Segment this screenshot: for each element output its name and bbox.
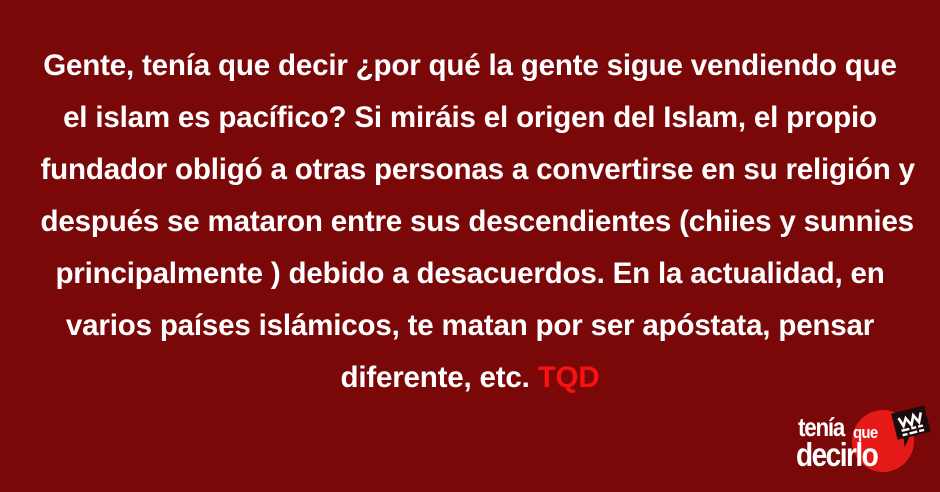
tqd-tag: TQD [538, 361, 600, 394]
logo-text-decirlo: decirlo [796, 436, 877, 474]
quote-line: el islam es pacífico? Si miráis el orige… [41, 92, 900, 144]
tqd-logo[interactable]: teníaque decirlo [790, 402, 940, 488]
quote-line-final: diferente, etc. TQD [41, 352, 900, 404]
quote-line: Gente, tenía que decir ¿por qué la gente… [41, 40, 900, 92]
logo-row-bottom: decirlo [796, 436, 892, 474]
meme-card: Gente, tenía que decir ¿por qué la gente… [0, 0, 940, 492]
quote-line: principalmente ) debido a desacuerdos. E… [41, 248, 900, 300]
quote-text-block: Gente, tenía que decir ¿por qué la gente… [34, 40, 906, 404]
quote-line: fundador obligó a otras personas a conve… [41, 144, 900, 196]
quote-line: varios países islámicos, te matan por se… [41, 300, 900, 352]
quote-line-final-text: diferente, etc. [341, 361, 538, 394]
quote-line: después se mataron entre sus descendient… [41, 196, 900, 248]
speech-bubble-icon [887, 402, 938, 453]
